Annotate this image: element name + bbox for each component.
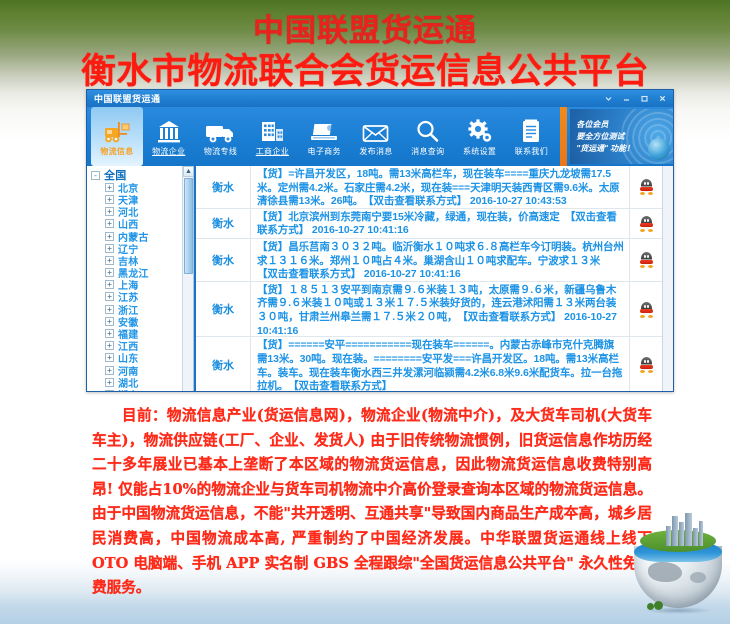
- globe-illustration: [630, 512, 726, 612]
- search-icon: [415, 117, 440, 144]
- cell-contact[interactable]: [630, 209, 662, 238]
- qq-icon[interactable]: [640, 302, 653, 317]
- qq-icon[interactable]: [640, 216, 653, 231]
- table-row[interactable]: 衡水【货】=许昌开发区，18吨。需13米高栏车，现在装车====重庆九龙坡需17…: [196, 166, 662, 209]
- cell-contact[interactable]: [630, 239, 662, 281]
- table-row[interactable]: 衡水【货】１８５１３安平到南京需９.６米装１３吨，太原需９.６米，新疆乌鲁木齐需…: [196, 282, 662, 338]
- qq-icon[interactable]: [640, 252, 653, 267]
- cell-city: 衡水: [196, 209, 251, 238]
- tree-node-province[interactable]: +福建: [91, 327, 193, 339]
- promo-banner[interactable]: 各位会员 要全方位测试 "货运通" 功能！: [570, 109, 673, 164]
- cell-city: 衡水: [196, 282, 251, 337]
- tree-node-province[interactable]: +黑龙江: [91, 267, 193, 279]
- table-row[interactable]: 衡水【货】昌乐莒南３０３２吨。临沂衡水１０吨求６.８高栏车今订明装。杭州台州求１…: [196, 239, 662, 282]
- tree-node-province[interactable]: +湖南: [91, 388, 193, 392]
- tree-toggle-icon[interactable]: +: [105, 390, 114, 392]
- tree-toggle-icon[interactable]: +: [105, 232, 114, 241]
- page-title-line2: 衡水市物流联合会货运信息公共平台: [0, 51, 730, 92]
- toolbar-item-post-message[interactable]: 发布消息: [350, 107, 402, 166]
- content-scrollbar[interactable]: [662, 166, 673, 392]
- tree-toggle-icon[interactable]: +: [105, 353, 114, 362]
- app-window: 中国联盟货运通: [86, 89, 674, 392]
- app-body: - 全国 +北京+天津+河北+山西+内蒙古+辽宁+吉林+黑龙江+上海+江苏+浙江…: [87, 166, 673, 392]
- tree-node-province[interactable]: +河南: [91, 364, 193, 376]
- tree-node-province[interactable]: +内蒙古: [91, 230, 193, 242]
- table-row[interactable]: 衡水【货】北京滨州到东莞南宁要15米冷藏，绿通，现在装，价高速定 【双击查看联系…: [196, 209, 662, 239]
- tree-node-province[interactable]: +河北: [91, 206, 193, 218]
- cell-city: 衡水: [196, 337, 251, 392]
- forklift-icon: [102, 117, 132, 144]
- globe-shadow: [644, 607, 712, 614]
- message-list-area: 衡水【货】=许昌开发区，18吨。需13米高栏车，现在装车====重庆九龙坡需17…: [194, 166, 673, 392]
- toolbar-label: 物流企业: [152, 146, 185, 157]
- cell-message[interactable]: 【货】北京滨州到东莞南宁要15米冷藏，绿通，现在装，价高速定 【双击查看联系方式…: [251, 209, 630, 238]
- toolbar-label: 消息查询: [411, 146, 444, 157]
- tree-toggle-icon[interactable]: +: [105, 195, 114, 204]
- toolbar-item-contact-us[interactable]: 联系我们: [506, 107, 558, 166]
- message-timestamp: 2016-10-27 10:41:16: [312, 224, 409, 236]
- cell-contact[interactable]: [630, 166, 662, 208]
- toolbar-label: 联系我们: [515, 146, 548, 157]
- tree-toggle-icon[interactable]: +: [105, 280, 114, 289]
- toolbar-label: 发布消息: [359, 146, 392, 157]
- tree-node-province[interactable]: +天津: [91, 193, 193, 205]
- city-skyline: [664, 512, 704, 546]
- tree-toggle-icon[interactable]: +: [105, 207, 114, 216]
- page-title: 中国联盟货运通 衡水市物流联合会货运信息公共平台: [0, 14, 730, 92]
- toolbar-label: 工商企业: [256, 146, 289, 157]
- sidebar-scroll-thumb[interactable]: [184, 178, 193, 274]
- table-row[interactable]: 衡水【货】======安平===========现在装车======。内蒙古赤峰…: [196, 337, 662, 392]
- laptop-icon: [309, 117, 339, 144]
- qq-icon[interactable]: [640, 179, 653, 194]
- message-timestamp: 2016-10-27 10:41:16: [364, 268, 461, 280]
- message-timestamp: 2016-10-27 10:43:53: [470, 195, 567, 207]
- region-sidebar: - 全国 +北京+天津+河北+山西+内蒙古+辽宁+吉林+黑龙江+上海+江苏+浙江…: [87, 166, 194, 392]
- main-toolbar: 物流信息 物流企业: [87, 107, 673, 166]
- toolbar-item-message-query[interactable]: 消息查询: [402, 107, 454, 166]
- toolbar-label: 系统设置: [463, 146, 496, 157]
- message-text: 【货】======安平===========现在装车======。内蒙古赤峰市克…: [257, 339, 622, 392]
- tree-toggle-icon[interactable]: +: [105, 378, 114, 387]
- tree-toggle-icon[interactable]: +: [105, 268, 114, 277]
- toolbar-label: 电子商务: [308, 146, 341, 157]
- tree-toggle-icon[interactable]: +: [105, 256, 114, 265]
- tree-node-province[interactable]: +江苏: [91, 291, 193, 303]
- office-icon: [259, 117, 285, 144]
- message-text: 【货】１８５１３安平到南京需９.６米装１３吨，太原需９.６米，新疆乌鲁木齐需９.…: [257, 284, 616, 323]
- sidebar-scrollbar[interactable]: ▲: [182, 166, 193, 392]
- cell-contact[interactable]: [630, 337, 662, 392]
- tree-node-province[interactable]: +山东: [91, 352, 193, 364]
- message-table: 衡水【货】=许昌开发区，18吨。需13米高栏车，现在装车====重庆九龙坡需17…: [196, 166, 662, 392]
- tree-label: 湖南: [118, 387, 138, 392]
- cell-message[interactable]: 【货】======安平===========现在装车======。内蒙古赤峰市克…: [251, 337, 630, 392]
- promo-line-1: 各位会员: [576, 119, 673, 130]
- window-controls: [600, 90, 671, 107]
- qq-icon[interactable]: [640, 357, 653, 372]
- tree-node-province[interactable]: +湖北: [91, 376, 193, 388]
- cell-city: 衡水: [196, 239, 251, 281]
- tree-node-province[interactable]: +江西: [91, 340, 193, 352]
- toolbar-label: 物流专线: [204, 146, 237, 157]
- tree-node-province[interactable]: +安徽: [91, 315, 193, 327]
- tree-node-province[interactable]: +辽宁: [91, 242, 193, 254]
- tree-toggle-icon[interactable]: +: [105, 305, 114, 314]
- tree-toggle-icon[interactable]: +: [105, 292, 114, 301]
- maximize-icon[interactable]: [636, 92, 653, 106]
- promo-globe-icon: [648, 138, 670, 160]
- tree-toggle-icon[interactable]: +: [105, 244, 114, 253]
- envelope-icon: [361, 117, 390, 144]
- toolbar-divider: [560, 107, 567, 166]
- tree-node-province[interactable]: +浙江: [91, 303, 193, 315]
- cell-contact[interactable]: [630, 282, 662, 337]
- toolbar-label: 物流信息: [100, 146, 133, 157]
- tree-toggle-icon[interactable]: +: [105, 366, 114, 375]
- cell-message[interactable]: 【货】昌乐莒南３０３２吨。临沂衡水１０吨求６.８高栏车今订明装。杭州台州求１３１…: [251, 239, 630, 281]
- truck-icon: [205, 117, 237, 144]
- region-tree: - 全国 +北京+天津+河北+山西+内蒙古+辽宁+吉林+黑龙江+上海+江苏+浙江…: [87, 166, 193, 392]
- toolbar-item-logistics-companies[interactable]: 物流企业: [143, 107, 195, 166]
- building-icon: [156, 117, 182, 144]
- tree-toggle-icon[interactable]: +: [105, 219, 114, 228]
- document-icon: [519, 117, 543, 144]
- gear-icon: [467, 117, 493, 144]
- toolbar-item-system-settings[interactable]: 系统设置: [454, 107, 506, 166]
- toolbar-item-commerce-enterprises[interactable]: 工商企业: [246, 107, 298, 166]
- window-titlebar: 中国联盟货运通: [87, 90, 673, 107]
- tree-toggle-icon[interactable]: +: [105, 317, 114, 326]
- minimize-icon[interactable]: [618, 92, 635, 106]
- window-title-text: 中国联盟货运通: [94, 92, 161, 105]
- tree-node-root[interactable]: - 全国: [91, 169, 193, 181]
- cell-city: 衡水: [196, 166, 251, 208]
- page-title-line1: 中国联盟货运通: [0, 14, 730, 49]
- tree-toggle-icon[interactable]: +: [105, 341, 114, 350]
- tree-node-province[interactable]: +上海: [91, 279, 193, 291]
- scroll-up-icon[interactable]: ▲: [183, 166, 194, 177]
- toolbar-item-ecommerce[interactable]: 电子商务: [298, 107, 350, 166]
- dropdown-icon[interactable]: [600, 92, 617, 106]
- tree-toggle-icon[interactable]: +: [105, 329, 114, 338]
- tree-toggle-icon[interactable]: +: [105, 183, 114, 192]
- description-paragraph: 目前：物流信息产业(货运信息网)，物流企业(物流中介)，及大货车司机(大货车车主…: [92, 404, 652, 601]
- cell-message[interactable]: 【货】=许昌开发区，18吨。需13米高栏车，现在装车====重庆九龙坡需17.5…: [251, 166, 630, 208]
- toolbar-item-logistics-info[interactable]: 物流信息: [91, 107, 143, 166]
- tree-toggle-icon[interactable]: -: [91, 171, 100, 180]
- cell-message[interactable]: 【货】１８５１３安平到南京需９.６米装１３吨，太原需９.６米，新疆乌鲁木齐需９.…: [251, 282, 630, 337]
- tree-node-province[interactable]: +北京: [91, 181, 193, 193]
- toolbar-item-logistics-lines[interactable]: 物流专线: [195, 107, 247, 166]
- close-icon[interactable]: [654, 92, 671, 106]
